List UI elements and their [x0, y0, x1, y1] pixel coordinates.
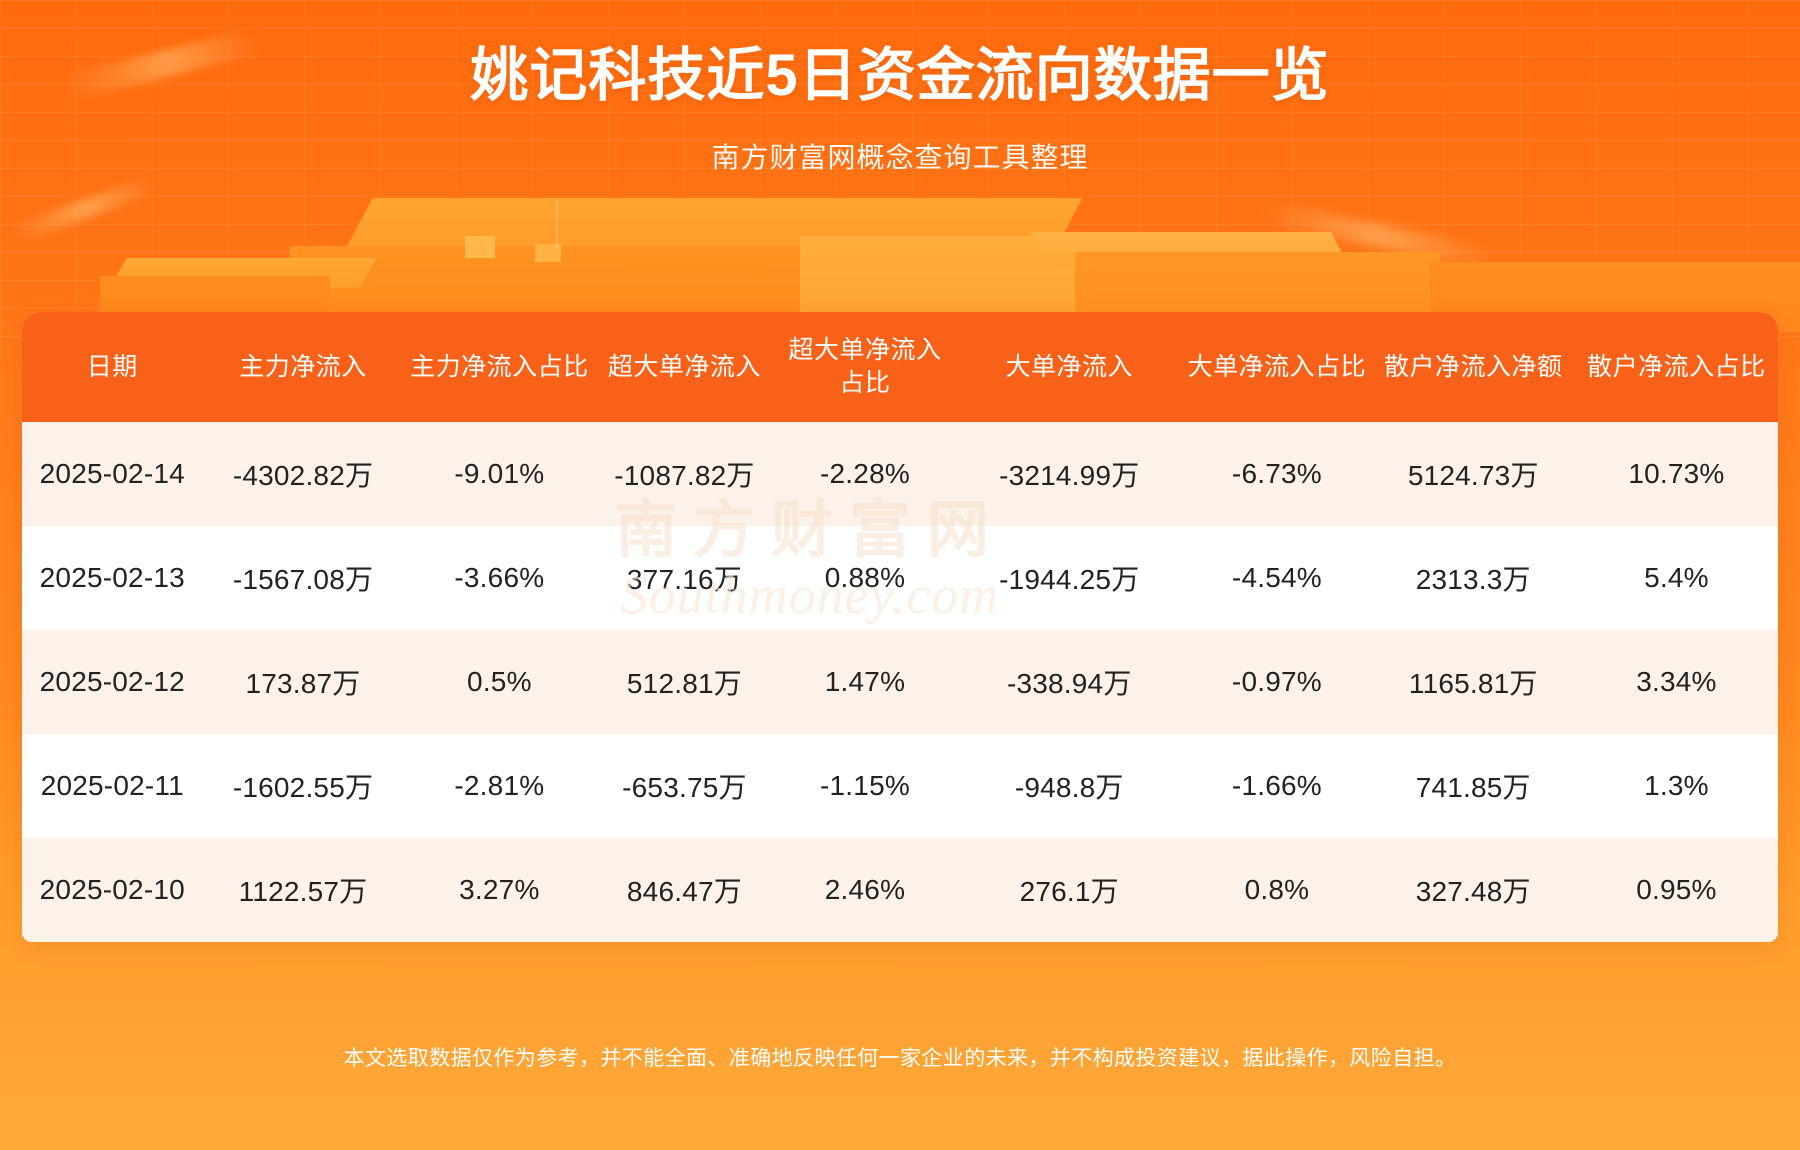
table-row: 2025-02-14 -4302.82万 -9.01% -1087.82万 -2…	[22, 422, 1778, 526]
podium-edge-highlight	[556, 198, 558, 250]
cell-retail-net: 2313.3万	[1372, 526, 1575, 630]
cell-lg-pct: -4.54%	[1182, 526, 1372, 630]
table-header-row: 日期 主力净流入 主力净流入占比 超大单净流入 超大单净流入占比 大单净流入 大…	[22, 312, 1778, 422]
cell-main-net: 173.87万	[203, 630, 404, 734]
column-header-date: 日期	[22, 312, 203, 422]
cell-retail-pct: 1.3%	[1575, 734, 1778, 838]
cell-lg-net: -338.94万	[956, 630, 1182, 734]
cell-retail-pct: 5.4%	[1575, 526, 1778, 630]
page-subtitle: 南方财富网概念查询工具整理	[0, 110, 1800, 176]
cell-xl-pct: 2.46%	[774, 838, 957, 942]
light-streak-left-lower	[11, 175, 158, 243]
cell-xl-pct: 0.88%	[774, 526, 957, 630]
cell-retail-pct: 10.73%	[1575, 422, 1778, 526]
column-header-xl-pct: 超大单净流入占比	[774, 312, 957, 422]
table-row: 2025-02-13 -1567.08万 -3.66% 377.16万 0.88…	[22, 526, 1778, 630]
cell-xl-net: 512.81万	[595, 630, 773, 734]
cell-main-pct: 0.5%	[403, 630, 595, 734]
cell-lg-pct: -6.73%	[1182, 422, 1372, 526]
cell-date: 2025-02-13	[22, 526, 203, 630]
cell-xl-net: 377.16万	[595, 526, 773, 630]
page-title: 姚记科技近5日资金流向数据一览	[0, 0, 1800, 110]
cell-main-pct: -3.66%	[403, 526, 595, 630]
podium-block-left-top	[109, 258, 376, 288]
cell-lg-net: -3214.99万	[956, 422, 1182, 526]
podium-notch-a	[465, 236, 495, 258]
cell-date: 2025-02-14	[22, 422, 203, 526]
cell-lg-pct: 0.8%	[1182, 838, 1372, 942]
fund-flow-table: 日期 主力净流入 主力净流入占比 超大单净流入 超大单净流入占比 大单净流入 大…	[22, 312, 1778, 942]
column-header-retail-pct: 散户净流入占比	[1575, 312, 1778, 422]
cell-date: 2025-02-12	[22, 630, 203, 734]
column-header-retail-net: 散户净流入净额	[1372, 312, 1575, 422]
table-row: 2025-02-11 -1602.55万 -2.81% -653.75万 -1.…	[22, 734, 1778, 838]
cell-retail-net: 741.85万	[1372, 734, 1575, 838]
column-header-lg-pct: 大单净流入占比	[1182, 312, 1372, 422]
cell-main-net: -4302.82万	[203, 422, 404, 526]
cell-main-net: 1122.57万	[203, 838, 404, 942]
cell-retail-net: 327.48万	[1372, 838, 1575, 942]
data-table-card: 日期 主力净流入 主力净流入占比 超大单净流入 超大单净流入占比 大单净流入 大…	[22, 312, 1778, 942]
cell-main-net: -1602.55万	[203, 734, 404, 838]
podium-block-right-top	[1031, 232, 1349, 266]
cell-retail-net: 1165.81万	[1372, 630, 1575, 734]
cell-date: 2025-02-11	[22, 734, 203, 838]
table-body: 2025-02-14 -4302.82万 -9.01% -1087.82万 -2…	[22, 422, 1778, 942]
column-header-main-pct: 主力净流入占比	[403, 312, 595, 422]
cell-xl-net: -1087.82万	[595, 422, 773, 526]
infographic-page: 姚记科技近5日资金流向数据一览 南方财富网概念查询工具整理 日期 主力净流入 主…	[0, 0, 1800, 1150]
table-header: 日期 主力净流入 主力净流入占比 超大单净流入 超大单净流入占比 大单净流入 大…	[22, 312, 1778, 422]
podium-block-center-top	[337, 198, 1082, 264]
cell-retail-pct: 0.95%	[1575, 838, 1778, 942]
cell-retail-net: 5124.73万	[1372, 422, 1575, 526]
cell-main-pct: -9.01%	[403, 422, 595, 526]
cell-xl-net: -653.75万	[595, 734, 773, 838]
cell-xl-net: 846.47万	[595, 838, 773, 942]
table-row: 2025-02-10 1122.57万 3.27% 846.47万 2.46% …	[22, 838, 1778, 942]
cell-lg-net: 276.1万	[956, 838, 1182, 942]
cell-lg-net: -1944.25万	[956, 526, 1182, 630]
cell-xl-pct: -2.28%	[774, 422, 957, 526]
hero-text-block: 姚记科技近5日资金流向数据一览 南方财富网概念查询工具整理	[0, 0, 1800, 176]
cell-date: 2025-02-10	[22, 838, 203, 942]
cell-xl-pct: 1.47%	[774, 630, 957, 734]
disclaimer-text: 本文选取数据仅作为参考，并不能全面、准确地反映任何一家企业的未来，并不构成投资建…	[0, 1042, 1800, 1072]
cell-main-pct: 3.27%	[403, 838, 595, 942]
column-header-main-net: 主力净流入	[203, 312, 404, 422]
cell-lg-pct: -0.97%	[1182, 630, 1372, 734]
cell-main-net: -1567.08万	[203, 526, 404, 630]
column-header-lg-net: 大单净流入	[956, 312, 1182, 422]
cell-retail-pct: 3.34%	[1575, 630, 1778, 734]
column-header-xl-net: 超大单净流入	[595, 312, 773, 422]
cell-main-pct: -2.81%	[403, 734, 595, 838]
cell-xl-pct: -1.15%	[774, 734, 957, 838]
cell-lg-net: -948.8万	[956, 734, 1182, 838]
podium-notch-b	[535, 244, 561, 262]
table-row: 2025-02-12 173.87万 0.5% 512.81万 1.47% -3…	[22, 630, 1778, 734]
cell-lg-pct: -1.66%	[1182, 734, 1372, 838]
light-streak-right	[1260, 200, 1499, 271]
